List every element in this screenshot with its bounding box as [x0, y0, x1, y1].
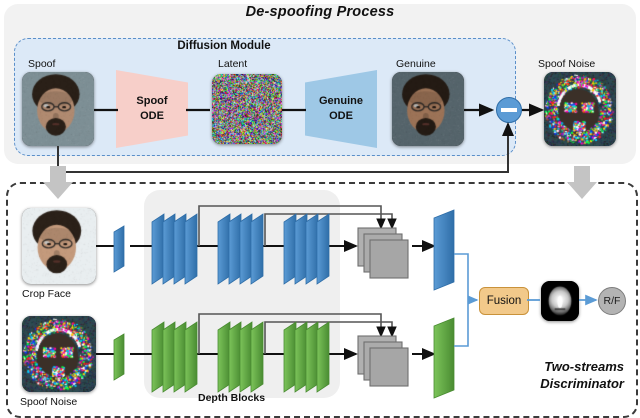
- fusion-bracket: [454, 254, 477, 346]
- panel-transition-arrows: [43, 166, 597, 199]
- figure-root: De-spoofing Process Diffusion Module Spo…: [0, 0, 640, 418]
- spoof-feedback-path: [58, 124, 508, 172]
- connector-overlay: [0, 0, 640, 418]
- noise-feature-maps: [358, 336, 408, 386]
- rgb-feature-maps: [358, 228, 408, 278]
